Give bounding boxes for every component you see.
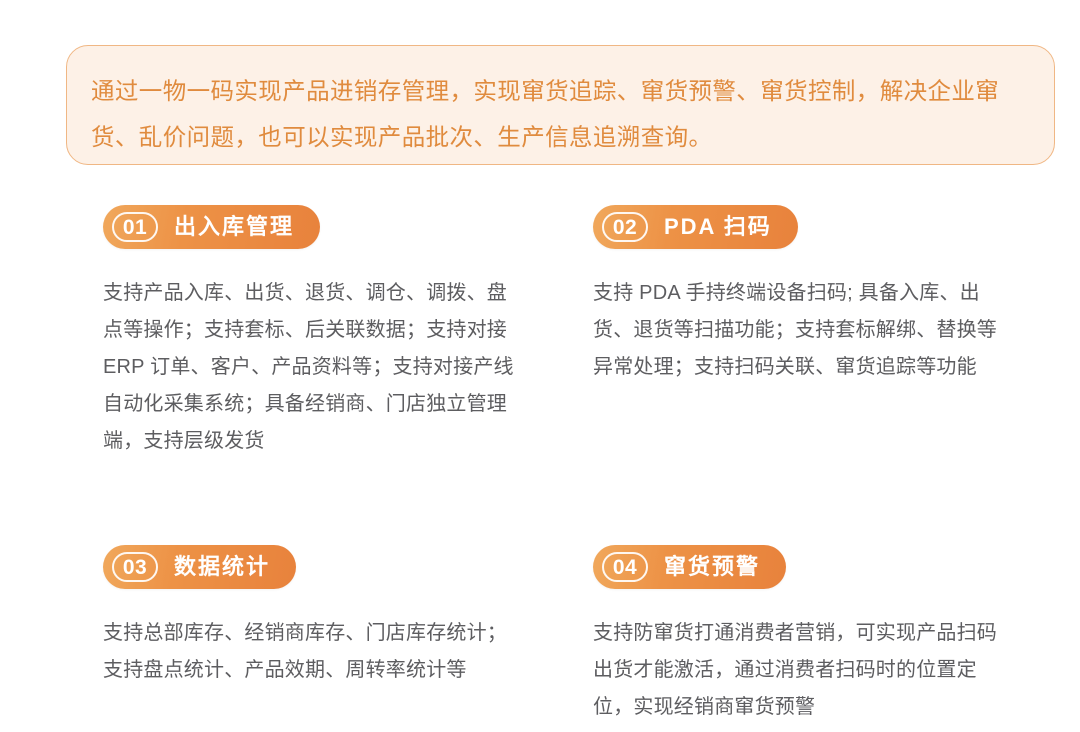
feature-header-01[interactable]: 01 出入库管理 (103, 205, 320, 249)
feature-card-03: 03 数据统计 支持总部库存、经销商库存、门店库存统计；支持盘点统计、产品效期、… (0, 460, 480, 726)
feature-number-badge-02: 02 (602, 212, 648, 242)
feature-description-04: 支持防窜货打通消费者营销，可实现产品扫码出货才能激活，通过消费者扫码时的位置定位… (593, 615, 1003, 726)
feature-number-badge-04: 04 (602, 552, 648, 582)
feature-header-04[interactable]: 04 窜货预警 (593, 545, 786, 589)
feature-card-02: 02 PDA 扫码 支持 PDA 手持终端设备扫码; 具备入库、出货、退货等扫描… (480, 205, 960, 460)
feature-grid: 01 出入库管理 支持产品入库、出货、退货、调仓、调拨、盘点等操作；支持套标、后… (0, 205, 1080, 726)
feature-title-01: 出入库管理 (174, 216, 294, 238)
feature-title-04: 窜货预警 (664, 556, 760, 578)
intro-banner-text: 通过一物一码实现产品进销存管理，实现窜货追踪、窜货预警、窜货控制，解决企业窜货、… (91, 68, 1020, 160)
feature-number-badge-03: 03 (112, 552, 158, 582)
feature-card-04: 04 窜货预警 支持防窜货打通消费者营销，可实现产品扫码出货才能激活，通过消费者… (480, 460, 960, 726)
feature-header-03[interactable]: 03 数据统计 (103, 545, 296, 589)
feature-number-badge-01: 01 (112, 212, 158, 242)
feature-card-01: 01 出入库管理 支持产品入库、出货、退货、调仓、调拨、盘点等操作；支持套标、后… (0, 205, 480, 460)
feature-description-01: 支持产品入库、出货、退货、调仓、调拨、盘点等操作；支持套标、后关联数据；支持对接… (103, 275, 518, 460)
feature-description-03: 支持总部库存、经销商库存、门店库存统计；支持盘点统计、产品效期、周转率统计等 (103, 615, 518, 689)
feature-title-03: 数据统计 (174, 556, 270, 578)
feature-title-02: PDA 扫码 (664, 216, 772, 238)
feature-header-02[interactable]: 02 PDA 扫码 (593, 205, 798, 249)
intro-banner: 通过一物一码实现产品进销存管理，实现窜货追踪、窜货预警、窜货控制，解决企业窜货、… (66, 45, 1055, 165)
feature-description-02: 支持 PDA 手持终端设备扫码; 具备入库、出货、退货等扫描功能；支持套标解绑、… (593, 275, 1003, 386)
